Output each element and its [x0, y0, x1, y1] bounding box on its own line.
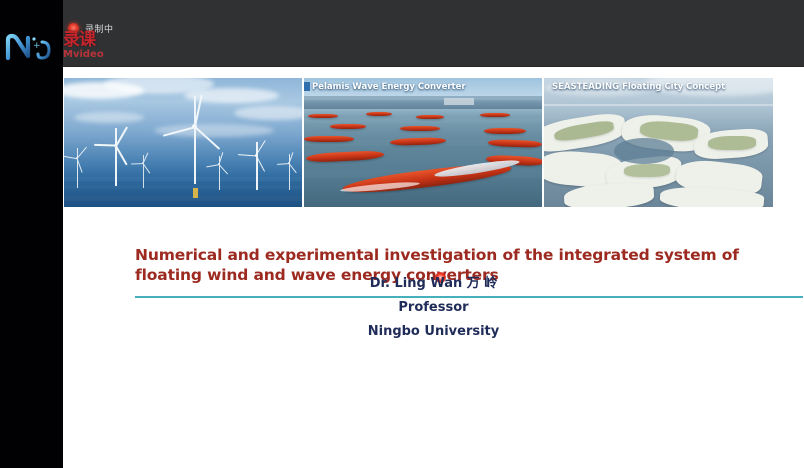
photo-caption-2: Pelamis Wave Energy Converter [312, 82, 466, 92]
pelamis-wave-energy-converter-photo: Pelamis Wave Energy Converter [304, 78, 542, 207]
author-block: Dr. Ling Wan 万 岭 Professor Ningbo Univer… [63, 272, 804, 344]
watermark-cn-text: 录课 [63, 32, 143, 49]
slide-image-strip: Pelamis Wave Energy Converter [64, 78, 773, 207]
seasteading-floating-city-photo: SEASTEADING Floating City Concept [544, 78, 773, 207]
n-plus-logo-icon: + [4, 30, 60, 64]
presentation-slide: Pelamis Wave Energy Converter [63, 67, 804, 468]
svg-text:+: + [33, 41, 41, 51]
author-name: Dr. Ling Wan 万 岭 [63, 272, 804, 296]
watermark-en-text: Mvideo [63, 50, 143, 60]
photo-caption-3: SEASTEADING Floating City Concept [552, 82, 725, 92]
recorder-watermark: 录课 Mvideo [63, 32, 143, 64]
author-affiliation: Ningbo University [63, 320, 804, 344]
author-role: Professor [63, 296, 804, 320]
left-gutter: + [0, 0, 63, 468]
offshore-wind-farm-photo [64, 78, 302, 207]
recorder-header-bar: 录制中 [63, 0, 804, 67]
screen-capture-frame: + 录制中 录课 Mvideo [0, 0, 804, 468]
